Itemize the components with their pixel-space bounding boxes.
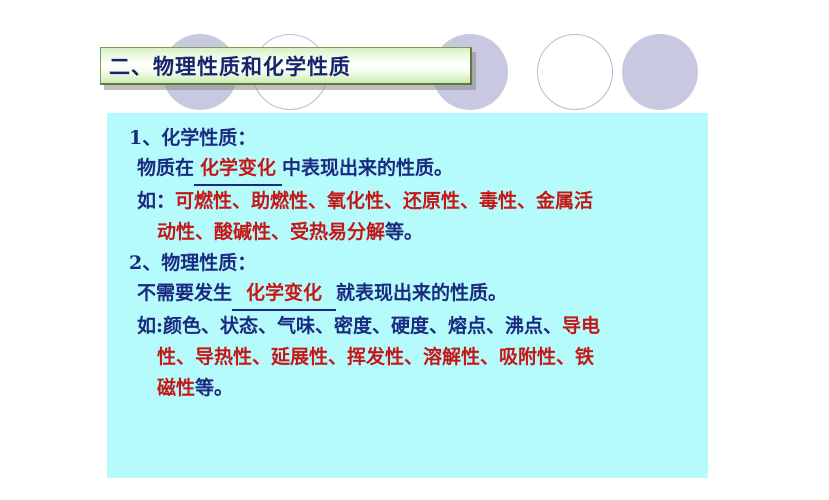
section-2-examples-line-1: 如:颜色、状态、气味、密度、硬度、熔点、沸点、导电 xyxy=(137,311,694,342)
section-1-examples-text-1: 可燃性、助燃性、氧化性、还原性、毒性、金属活 xyxy=(175,190,593,212)
section-2-examples-red-2: 性、导热性、延展性、挥发性、溶解性、吸附性、铁 xyxy=(157,346,594,368)
section-2-def-suffix: 就表现出来的性质。 xyxy=(336,282,507,304)
section-1-examples-line-1: 如：可燃性、助燃性、氧化性、还原性、毒性、金属活 xyxy=(137,186,694,217)
section-2-examples-tail: 等。 xyxy=(195,377,233,399)
section-1-examples-tail: 等。 xyxy=(385,221,423,243)
section-1-blank[interactable]: 化学变化 xyxy=(194,153,282,186)
section-2-definition: 不需要发生化学变化就表现出来的性质。 xyxy=(137,278,694,311)
section-1-examples-line-2: 动性、酸碱性、受热易分解等。 xyxy=(157,217,694,248)
section-1-definition: 物质在化学变化中表现出来的性质。 xyxy=(137,153,694,186)
section-2-blank[interactable]: 化学变化 xyxy=(232,278,336,311)
section-2-examples-line-2: 性、导热性、延展性、挥发性、溶解性、吸附性、铁 xyxy=(157,342,694,373)
section-2-heading: 2、物理性质： xyxy=(129,248,694,278)
section-1-examples-label: 如： xyxy=(137,190,175,212)
section-1-heading: 1、化学性质： xyxy=(129,123,694,153)
section-2-examples-red-1: 导电 xyxy=(562,315,600,337)
slide-title: 二、物理性质和化学性质 xyxy=(109,51,351,81)
slide-canvas: 二、物理性质和化学性质 1、化学性质： 物质在化学变化中表现出来的性质。 如：可… xyxy=(0,0,829,500)
section-1-def-prefix: 物质在 xyxy=(137,157,194,179)
section-2-examples-label: 如: xyxy=(137,315,163,337)
decor-circle-5 xyxy=(622,34,698,110)
section-1-examples-text-2: 动性、酸碱性、受热易分解 xyxy=(157,221,385,243)
section-1-def-suffix: 中表现出来的性质。 xyxy=(282,157,453,179)
title-bar: 二、物理性质和化学性质 xyxy=(100,47,472,85)
section-2-examples-red-3: 磁性 xyxy=(157,377,195,399)
decor-circle-4 xyxy=(537,34,613,110)
section-2-examples-blue-1: 颜色、状态、气味、密度、硬度、熔点、沸点、 xyxy=(163,315,562,337)
content-panel: 1、化学性质： 物质在化学变化中表现出来的性质。 如：可燃性、助燃性、氧化性、还… xyxy=(107,113,708,478)
section-2-examples-line-3: 磁性等。 xyxy=(157,373,694,404)
section-2-def-prefix: 不需要发生 xyxy=(137,282,232,304)
